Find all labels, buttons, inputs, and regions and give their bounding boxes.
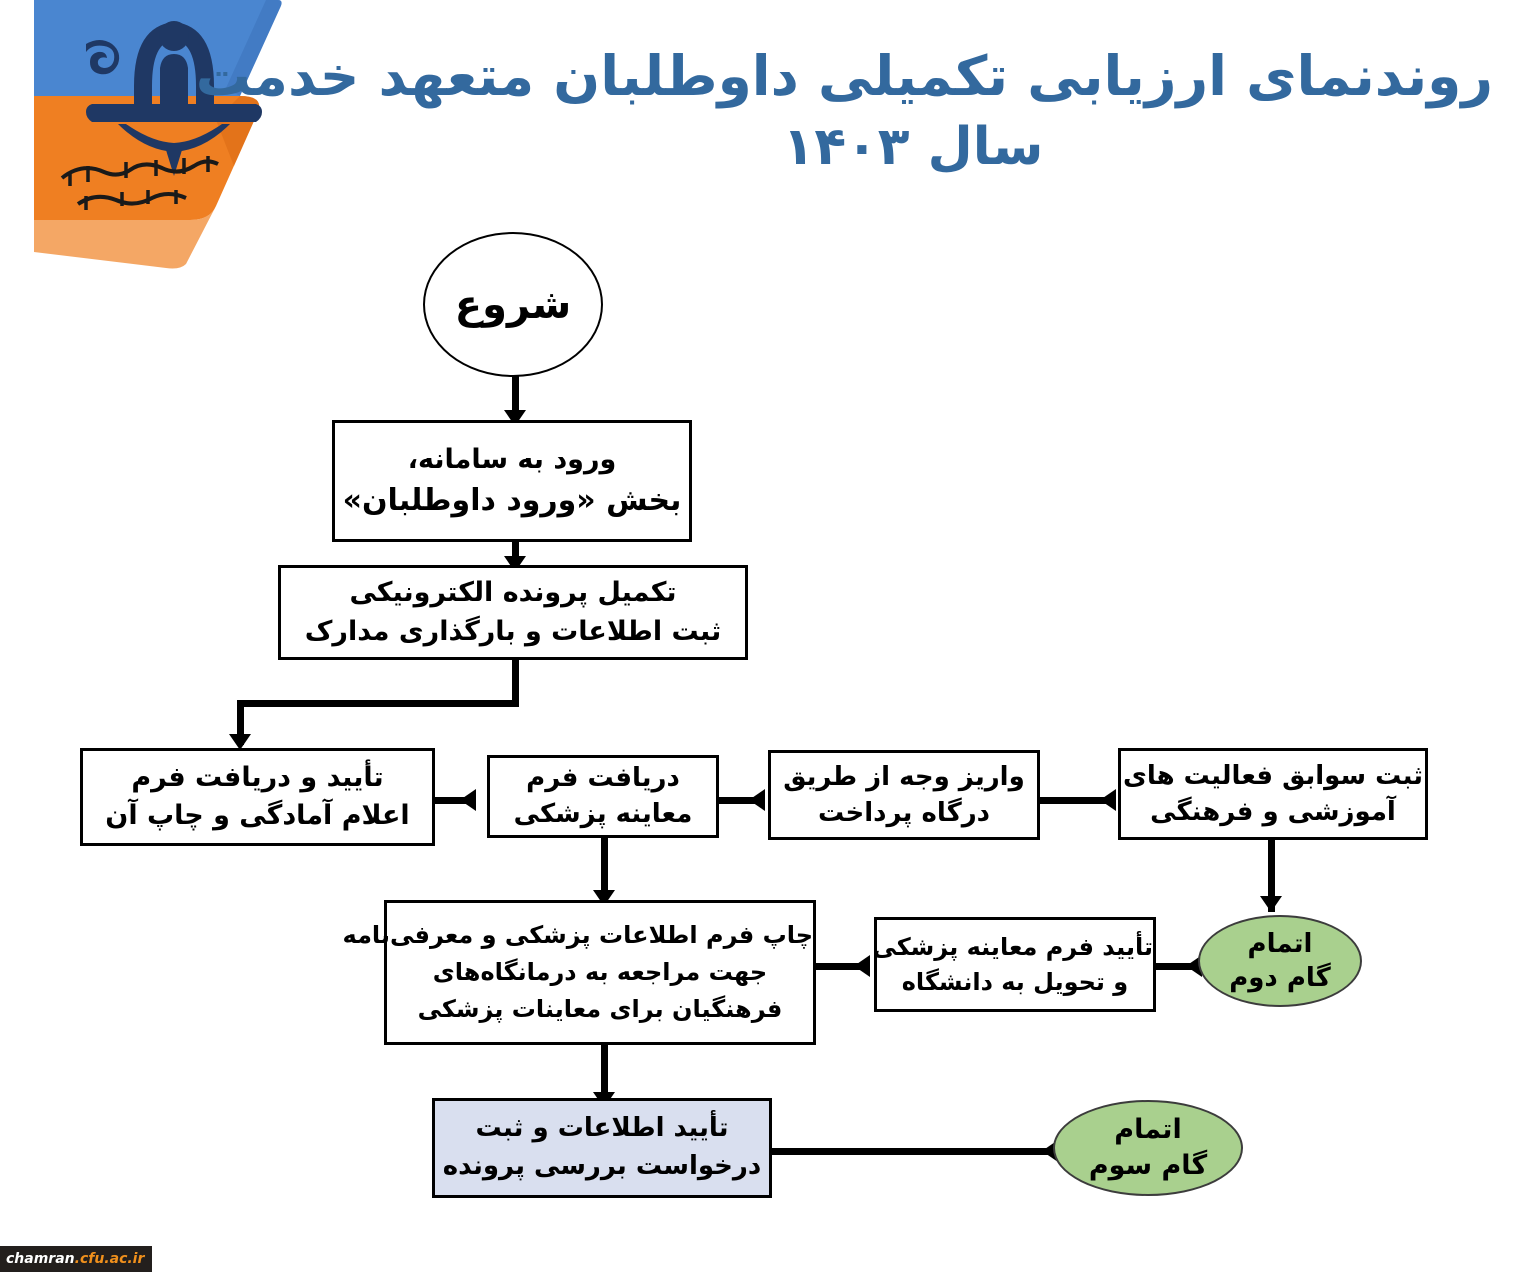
node-print-medical-form[interactable]: چاپ فرم اطلاعات پزشکی و معرفی‌نامه جهت م… [384, 900, 816, 1045]
node-activity-records-line-2: آموزشی و فرهنگی [1121, 794, 1425, 830]
node-readiness[interactable]: تأیید و دریافت فرم اعلام آمادگی و چاپ آن [80, 748, 435, 846]
node-login-line-1: ورود به سامانه، [335, 440, 689, 479]
node-payment-line-1: واریز وجه از طریق [771, 759, 1037, 795]
edge-efile-left [237, 700, 519, 707]
node-end-step-three[interactable]: اتمام گام سوم [1053, 1100, 1243, 1196]
node-medical-form[interactable]: دریافت فرم معاینه پزشکی [487, 755, 719, 838]
node-readiness-line-1: تأیید و دریافت فرم [83, 759, 432, 797]
node-medical-form-line-2: معاینه پزشکی [490, 797, 716, 833]
node-payment-line-2: درگاه پرداخت [771, 795, 1037, 831]
node-payment[interactable]: واریز وجه از طریق درگاه پرداخت [768, 750, 1040, 840]
node-end-step-two-line-2: گام دوم [1200, 961, 1360, 995]
arrowhead-records-step2 [1260, 896, 1282, 912]
site-watermark: chamran.cfu.ac.ir [0, 1246, 152, 1272]
node-end-step-two-line-1: اتمام [1200, 927, 1360, 961]
title-line-1: روندنمای ارزیابی تکمیلی داوطلبان متعهد خ… [333, 46, 1493, 108]
arrowhead-payment-records [1100, 789, 1116, 811]
node-confirm-data[interactable]: تأیید اطلاعات و ثبت درخواست بررسی پرونده [432, 1098, 772, 1198]
node-start[interactable]: شروع [423, 232, 603, 377]
watermark-primary: chamran [6, 1251, 75, 1267]
arrowhead-printmed-confirmmed [854, 955, 870, 977]
node-start-line-1: شروع [425, 282, 601, 328]
flowchart-page: روندنمای ارزیابی تکمیلی داوطلبان متعهد خ… [0, 0, 1523, 1280]
node-confirm-medical-form-line-1: تأیید فرم معاینه پزشکی [877, 930, 1153, 965]
node-medical-form-line-1: دریافت فرم [490, 761, 716, 797]
node-end-step-three-line-2: گام سوم [1055, 1148, 1241, 1184]
node-print-medical-form-line-2: جهت مراجعه به درمانگاه‌های [387, 954, 813, 991]
watermark-secondary: .cfu.ac.ir [75, 1251, 145, 1267]
node-print-medical-form-line-1: چاپ فرم اطلاعات پزشکی و معرفی‌نامه [387, 917, 813, 954]
arrowhead-medform-payment [749, 789, 765, 811]
node-confirm-medical-form-line-2: و تحویل به دانشگاه [877, 965, 1153, 1000]
edge-confirmdata-step3 [770, 1148, 1058, 1155]
arrowhead-readiness-medform [460, 789, 476, 811]
node-activity-records-line-1: ثبت سوابق فعالیت های [1121, 758, 1425, 794]
node-confirm-data-line-2: درخواست بررسی پرونده [435, 1148, 769, 1186]
node-login[interactable]: ورود به سامانه، بخش «ورود داوطلبان» [332, 420, 692, 542]
node-activity-records[interactable]: ثبت سوابق فعالیت های آموزشی و فرهنگی [1118, 748, 1428, 840]
node-confirm-data-line-1: تأیید اطلاعات و ثبت [435, 1110, 769, 1148]
node-readiness-line-2: اعلام آمادگی و چاپ آن [83, 797, 432, 835]
node-end-step-two[interactable]: اتمام گام دوم [1198, 915, 1362, 1007]
node-efile[interactable]: تکمیل پرونده الکترونیکی ثبت اطلاعات و با… [278, 565, 748, 660]
node-confirm-medical-form[interactable]: تأیید فرم معاینه پزشکی و تحویل به دانشگا… [874, 917, 1156, 1012]
university-logo [26, 0, 286, 270]
node-efile-line-1: تکمیل پرونده الکترونیکی [281, 574, 745, 612]
node-login-line-2: بخش «ورود داوطلبان» [335, 479, 689, 523]
title-line-2: سال ۱۴۰۳ [333, 116, 1493, 178]
node-end-step-three-line-1: اتمام [1055, 1112, 1241, 1148]
node-print-medical-form-line-3: فرهنگیان برای معاینات پزشکی [387, 991, 813, 1028]
page-title: روندنمای ارزیابی تکمیلی داوطلبان متعهد خ… [333, 46, 1493, 178]
node-efile-line-2: ثبت اطلاعات و بارگذاری مدارک [281, 613, 745, 651]
